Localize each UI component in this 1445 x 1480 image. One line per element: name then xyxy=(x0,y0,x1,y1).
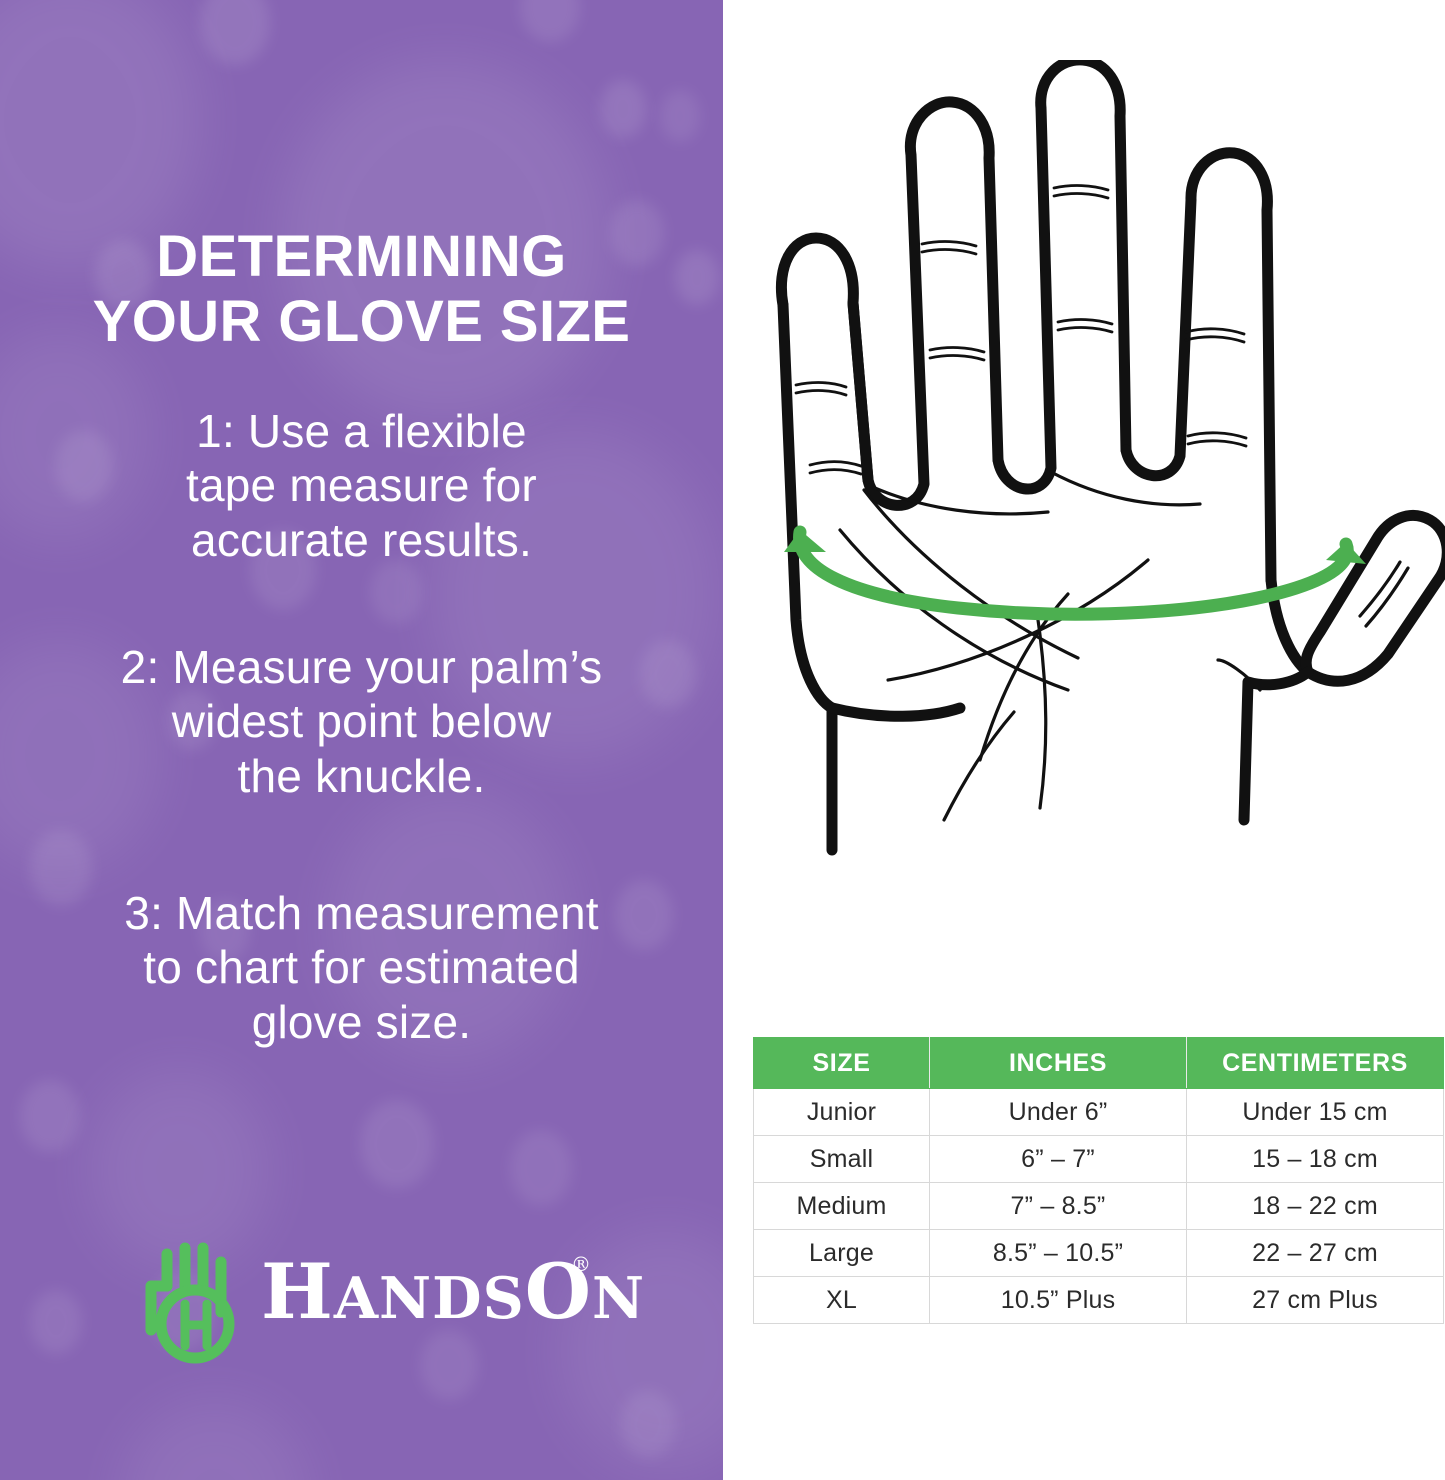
cell-size: XL xyxy=(754,1277,930,1324)
cell-size: Junior xyxy=(754,1089,930,1136)
page-title: DETERMINING YOUR GLOVE SIZE xyxy=(0,225,723,355)
column-header-size: SIZE xyxy=(754,1038,930,1089)
brand-logo: HANDSON ® xyxy=(133,1238,603,1378)
cell-centimeters: 22 – 27 cm xyxy=(1187,1230,1444,1277)
instructions-panel: DETERMINING YOUR GLOVE SIZE 1: Use a fle… xyxy=(0,0,723,1480)
cell-size: Small xyxy=(754,1136,930,1183)
instruction-step-2-line-1: 2: Measure your palm’s xyxy=(40,640,683,694)
column-header-inches: INCHES xyxy=(930,1038,1187,1089)
cell-centimeters: 18 – 22 cm xyxy=(1187,1183,1444,1230)
hand-outline xyxy=(781,60,1445,850)
table-row: Large 8.5” – 10.5” 22 – 27 cm xyxy=(754,1230,1444,1277)
table-row: Small 6” – 7” 15 – 18 cm xyxy=(754,1136,1444,1183)
instruction-step-1-line-2: tape measure for xyxy=(40,458,683,512)
instruction-step-1-line-3: accurate results. xyxy=(40,513,683,567)
instruction-step-2: 2: Measure your palm’s widest point belo… xyxy=(40,640,683,803)
cell-inches: 7” – 8.5” xyxy=(930,1183,1187,1230)
instruction-step-2-line-3: the knuckle. xyxy=(40,749,683,803)
cell-size: Large xyxy=(754,1230,930,1277)
brand-wordmark-h: H xyxy=(261,1247,334,1336)
palm-crease-lines xyxy=(840,472,1408,820)
cell-centimeters: 15 – 18 cm xyxy=(1187,1136,1444,1183)
cell-inches: 6” – 7” xyxy=(930,1136,1187,1183)
cell-size: Medium xyxy=(754,1183,930,1230)
cell-centimeters: 27 cm Plus xyxy=(1187,1277,1444,1324)
instruction-step-3-line-3: glove size. xyxy=(40,995,683,1049)
page-title-line-1: DETERMINING xyxy=(0,225,723,290)
table-row: Junior Under 6” Under 15 cm xyxy=(754,1089,1444,1136)
cell-centimeters: Under 15 cm xyxy=(1187,1089,1444,1136)
brand-wordmark-n: N xyxy=(592,1265,645,1332)
instruction-step-1-line-1: 1: Use a flexible xyxy=(40,404,683,458)
hand-logo-icon xyxy=(133,1242,253,1370)
illustration-and-chart-panel: SIZE INCHES CENTIMETERS Junior Under 6” … xyxy=(723,0,1445,1480)
table-row: Medium 7” – 8.5” 18 – 22 cm xyxy=(754,1183,1444,1230)
page-title-line-2: YOUR GLOVE SIZE xyxy=(0,290,723,355)
table-header-row: SIZE INCHES CENTIMETERS xyxy=(754,1038,1444,1089)
cell-inches: Under 6” xyxy=(930,1089,1187,1136)
registered-trademark-mark: ® xyxy=(571,1254,591,1274)
instruction-step-3: 3: Match measurement to chart for estima… xyxy=(40,886,683,1049)
instruction-step-3-line-1: 3: Match measurement xyxy=(40,886,683,940)
cell-inches: 8.5” – 10.5” xyxy=(930,1230,1187,1277)
hand-measurement-illustration xyxy=(748,60,1445,960)
cell-inches: 10.5” Plus xyxy=(930,1277,1187,1324)
brand-wordmark-ands: ANDS xyxy=(334,1265,525,1332)
column-header-centimeters: CENTIMETERS xyxy=(1187,1038,1444,1089)
instruction-step-1: 1: Use a flexible tape measure for accur… xyxy=(40,404,683,567)
instruction-step-3-line-2: to chart for estimated xyxy=(40,940,683,994)
glove-size-guide-page: DETERMINING YOUR GLOVE SIZE 1: Use a fle… xyxy=(0,0,1445,1480)
instruction-step-2-line-2: widest point below xyxy=(40,694,683,748)
table-row: XL 10.5” Plus 27 cm Plus xyxy=(754,1277,1444,1324)
glove-size-chart-table: SIZE INCHES CENTIMETERS Junior Under 6” … xyxy=(753,1037,1444,1324)
